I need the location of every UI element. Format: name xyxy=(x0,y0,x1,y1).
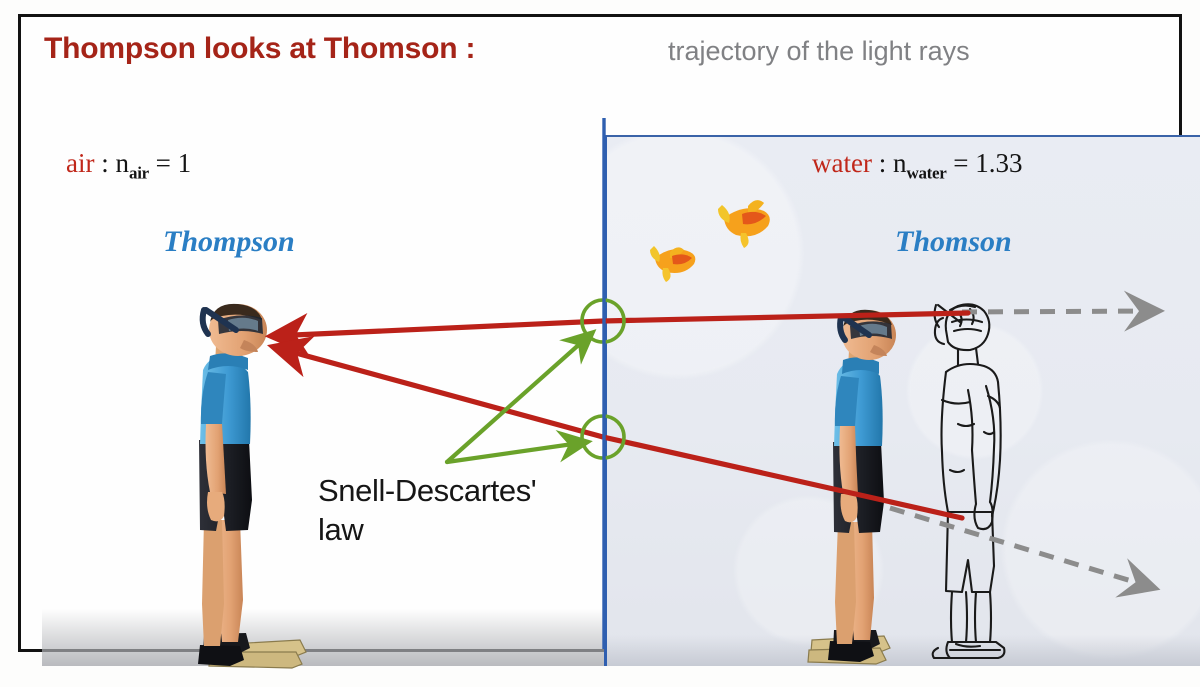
light-ray-lower-water xyxy=(603,437,962,518)
virtual-ray-group xyxy=(890,311,1152,586)
snell-construction-group xyxy=(447,333,592,462)
light-ray-group xyxy=(272,313,968,518)
virtual-ray-upper xyxy=(962,311,1152,312)
virtual-ray-lower xyxy=(890,508,1148,586)
light-ray-upper-air xyxy=(272,321,603,336)
light-ray-upper-water xyxy=(603,313,968,321)
light-ray-lower-air xyxy=(274,347,603,437)
optics-rays-layer xyxy=(0,0,1200,687)
slide-canvas: Thompson looks at Thomson : trajectory o… xyxy=(0,0,1200,687)
